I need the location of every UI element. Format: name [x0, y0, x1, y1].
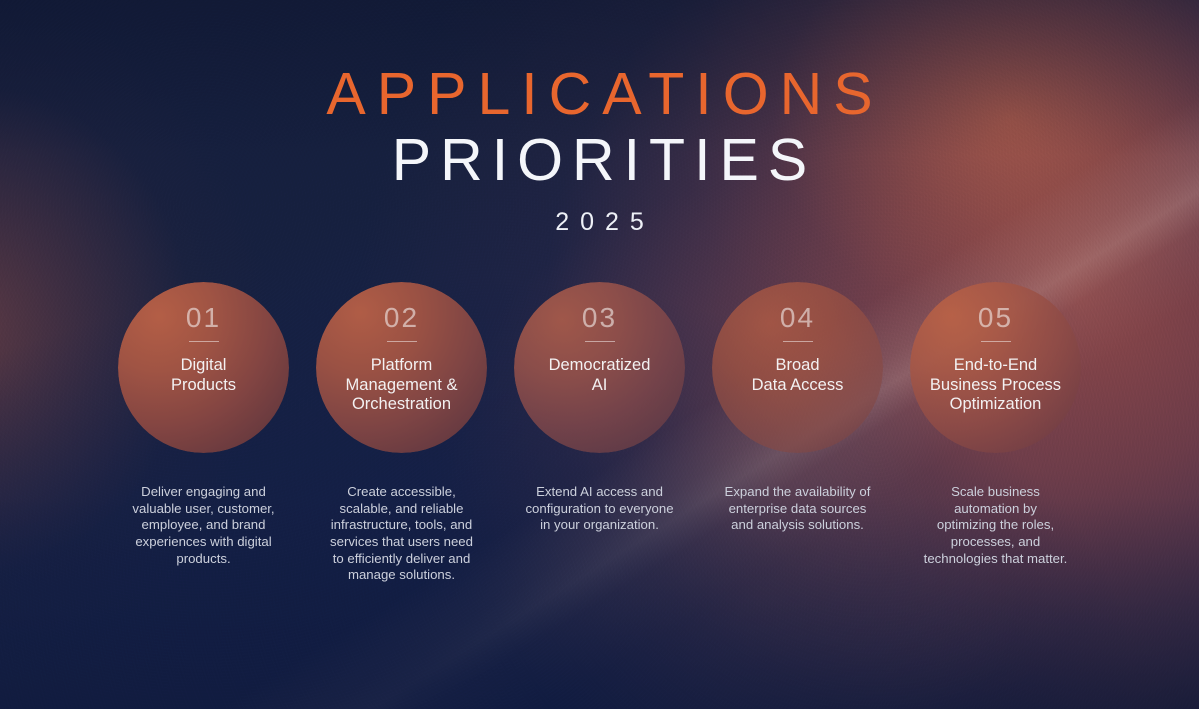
priority-number: 05	[978, 304, 1013, 332]
priority-number: 04	[780, 304, 815, 332]
priority-title: Democratized AI	[543, 356, 657, 395]
page-title-year: 2025	[0, 208, 1199, 237]
priority-circle-03[interactable]: 03 Democratized AI	[514, 282, 685, 453]
divider-rule	[585, 341, 615, 342]
priority-title: Digital Products	[165, 356, 242, 395]
divider-rule	[387, 341, 417, 342]
priority-title: End-to-End Business Process Optimization	[924, 356, 1067, 415]
priority-description: Scale business automation by optimizing …	[903, 484, 1089, 567]
priority-number: 01	[186, 304, 221, 332]
priority-number: 02	[384, 304, 419, 332]
priority-number: 03	[582, 304, 617, 332]
page-title-applications: APPLICATIONS	[0, 64, 1199, 124]
priority-pillar-02[interactable]: 02 Platform Management & Orchestration C…	[303, 282, 501, 584]
priority-description: Expand the availability of enterprise da…	[705, 484, 891, 534]
priority-description: Deliver engaging and valuable user, cust…	[111, 484, 297, 567]
priority-title: Broad Data Access	[746, 356, 850, 395]
priority-description: Create accessible, scalable, and reliabl…	[309, 484, 495, 584]
priority-pillar-01[interactable]: 01 Digital Products Deliver engaging and…	[105, 282, 303, 584]
priority-circle-01[interactable]: 01 Digital Products	[118, 282, 289, 453]
priority-description: Extend AI access and configuration to ev…	[507, 484, 693, 534]
priority-pillar-row: 01 Digital Products Deliver engaging and…	[0, 282, 1199, 584]
priority-pillar-04[interactable]: 04 Broad Data Access Expand the availabi…	[699, 282, 897, 584]
priority-circle-02[interactable]: 02 Platform Management & Orchestration	[316, 282, 487, 453]
priority-circle-04[interactable]: 04 Broad Data Access	[712, 282, 883, 453]
priority-title: Platform Management & Orchestration	[340, 356, 464, 415]
slide-canvas: APPLICATIONS PRIORITIES 2025 01 Digital …	[0, 0, 1199, 709]
slide-header: APPLICATIONS PRIORITIES 2025	[0, 64, 1199, 237]
divider-rule	[189, 341, 219, 342]
divider-rule	[783, 341, 813, 342]
divider-rule	[981, 341, 1011, 342]
priority-circle-05[interactable]: 05 End-to-End Business Process Optimizat…	[910, 282, 1081, 453]
page-title-priorities: PRIORITIES	[0, 126, 1199, 194]
priority-pillar-05[interactable]: 05 End-to-End Business Process Optimizat…	[897, 282, 1095, 584]
priority-pillar-03[interactable]: 03 Democratized AI Extend AI access and …	[501, 282, 699, 584]
